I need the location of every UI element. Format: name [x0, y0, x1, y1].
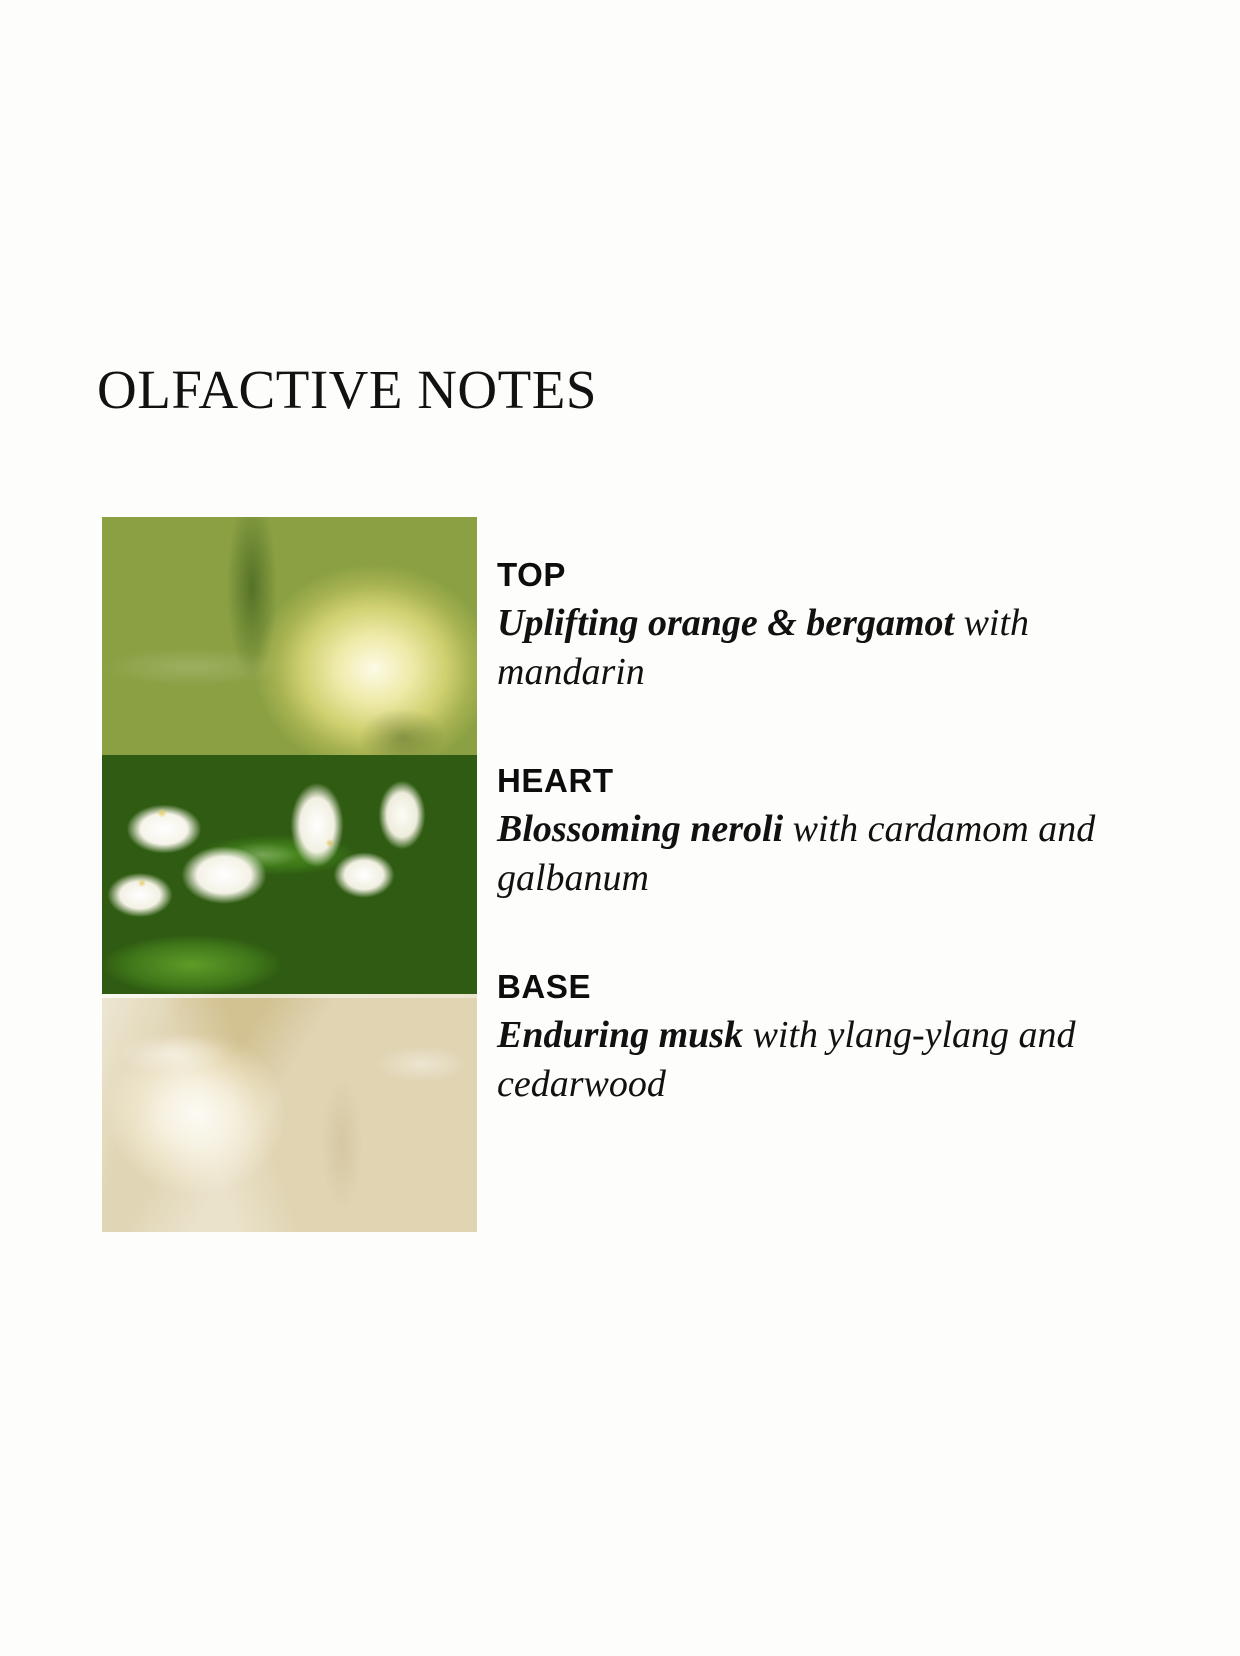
note-block-base: BASE Enduring musk with ylang-ylang and … [497, 968, 1117, 1108]
note-label-base: BASE [497, 968, 1117, 1007]
olfactive-notes-page: OLFACTIVE NOTES TOP Uplifting orange & b… [0, 0, 1240, 1656]
note-description-top: Uplifting orange & bergamot with mandari… [497, 599, 1117, 696]
orange-blossom-photo [102, 755, 477, 993]
note-label-top: TOP [497, 556, 1117, 595]
note-lead-base: Enduring musk [497, 1014, 743, 1056]
note-lead-top: Uplifting orange & bergamot [497, 602, 954, 644]
note-label-heart: HEART [497, 762, 1117, 801]
note-image-column [102, 517, 477, 1232]
note-description-base: Enduring musk with ylang-ylang and cedar… [497, 1011, 1117, 1108]
note-description-heart: Blossoming neroli with cardamom and galb… [497, 805, 1117, 902]
olfactive-notes-list: TOP Uplifting orange & bergamot with man… [497, 556, 1117, 1109]
note-block-top: TOP Uplifting orange & bergamot with man… [497, 556, 1117, 696]
citrus-fruit-photo [102, 517, 477, 755]
resin-crystal-photo [102, 994, 477, 1232]
note-block-heart: HEART Blossoming neroli with cardamom an… [497, 762, 1117, 902]
page-title: OLFACTIVE NOTES [97, 361, 597, 419]
note-lead-heart: Blossoming neroli [497, 808, 783, 850]
